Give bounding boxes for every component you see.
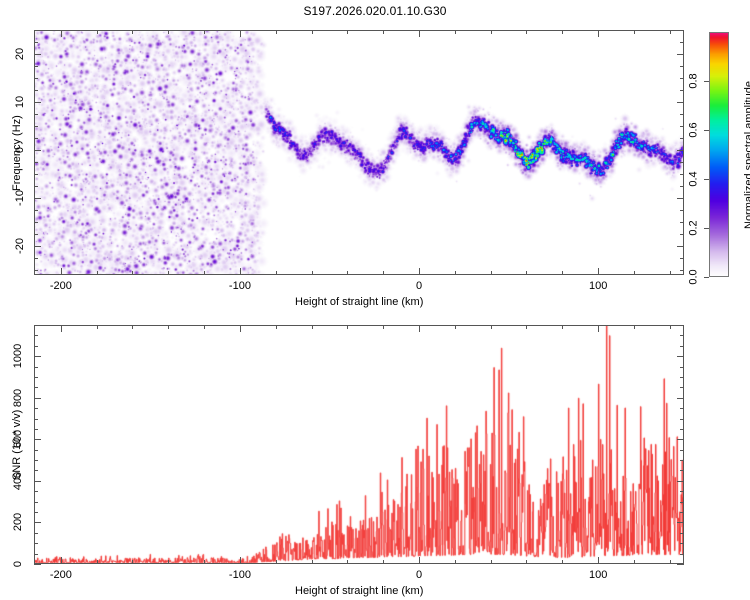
axis-tick-label: 200	[12, 513, 24, 531]
axis-tick	[132, 560, 133, 564]
axis-tick	[680, 66, 684, 67]
axis-tick-label: 10	[14, 96, 26, 108]
axis-tick	[34, 174, 38, 175]
axis-tick	[680, 554, 684, 555]
axis-tick	[598, 325, 599, 332]
axis-tick	[204, 30, 205, 34]
axis-tick	[680, 460, 684, 461]
axis-tick	[132, 325, 133, 329]
axis-tick	[34, 246, 41, 247]
axis-tick	[670, 325, 671, 329]
axis-tick	[677, 102, 684, 103]
axis-tick	[240, 268, 241, 275]
axis-tick	[61, 557, 62, 564]
axis-tick	[34, 439, 41, 440]
axis-tick	[276, 325, 277, 329]
axis-tick-label: 100	[589, 569, 607, 581]
axis-tick	[680, 78, 684, 79]
axis-tick	[677, 439, 684, 440]
axis-tick	[680, 186, 684, 187]
axis-tick-label: 0.2	[687, 220, 699, 235]
axis-tick	[680, 210, 684, 211]
axis-tick	[598, 557, 599, 564]
axis-tick	[562, 30, 563, 34]
axis-tick	[634, 560, 635, 564]
axis-tick	[419, 30, 420, 37]
axis-tick	[61, 30, 62, 37]
axis-tick	[61, 325, 62, 332]
axis-tick	[34, 408, 38, 409]
axis-tick	[491, 325, 492, 329]
axis-tick	[34, 367, 38, 368]
axis-tick	[34, 346, 38, 347]
axis-tick	[347, 560, 348, 564]
axis-tick	[34, 325, 38, 326]
spectrogram-axes-frame	[34, 30, 684, 275]
axis-tick	[680, 270, 684, 271]
axis-tick	[680, 491, 684, 492]
axis-tick	[704, 179, 709, 180]
axis-tick	[704, 130, 709, 131]
axis-tick-label: 0.4	[687, 171, 699, 186]
axis-tick	[680, 174, 684, 175]
axis-tick	[491, 560, 492, 564]
axis-tick	[34, 114, 38, 115]
axis-tick	[680, 90, 684, 91]
axis-tick	[680, 335, 684, 336]
axis-tick	[132, 30, 133, 34]
axis-tick-label: -100	[229, 569, 251, 581]
axis-tick	[34, 502, 38, 503]
axis-tick	[61, 268, 62, 275]
axis-tick-label: 0.0	[687, 269, 699, 284]
axis-tick	[312, 271, 313, 275]
axis-tick	[680, 419, 684, 420]
axis-tick	[34, 30, 38, 31]
axis-tick	[34, 234, 38, 235]
axis-tick	[677, 54, 684, 55]
axis-tick	[312, 560, 313, 564]
axis-tick	[34, 419, 38, 420]
axis-tick	[670, 271, 671, 275]
axis-tick	[704, 228, 709, 229]
axis-tick	[680, 30, 684, 31]
axis-tick	[204, 560, 205, 564]
axis-tick	[312, 30, 313, 34]
spectrogram-y-axis-label: Frequency (Hz)	[11, 115, 23, 191]
axis-tick	[240, 557, 241, 564]
axis-tick	[680, 234, 684, 235]
axis-tick	[34, 138, 38, 139]
axis-tick	[680, 42, 684, 43]
axis-tick	[680, 429, 684, 430]
axis-tick	[455, 560, 456, 564]
axis-tick	[34, 554, 38, 555]
axis-tick	[383, 30, 384, 34]
axis-tick	[491, 30, 492, 34]
axis-tick	[455, 271, 456, 275]
axis-tick	[455, 30, 456, 34]
axis-tick	[680, 377, 684, 378]
axis-tick	[677, 150, 684, 151]
axis-tick	[34, 564, 41, 565]
axis-tick	[97, 325, 98, 329]
axis-tick-label: 0	[416, 280, 422, 292]
axis-tick	[34, 335, 38, 336]
axis-tick-label: 1000	[12, 344, 24, 368]
axis-tick	[670, 560, 671, 564]
axis-tick	[34, 162, 38, 163]
axis-tick	[598, 268, 599, 275]
axis-tick	[34, 258, 38, 259]
axis-tick	[34, 66, 38, 67]
axis-tick	[526, 271, 527, 275]
axis-tick	[680, 470, 684, 471]
axis-tick	[680, 450, 684, 451]
axis-tick	[34, 522, 41, 523]
axis-tick-label: 100	[589, 280, 607, 292]
axis-tick	[168, 271, 169, 275]
axis-tick	[34, 102, 41, 103]
axis-tick	[132, 271, 133, 275]
axis-tick	[677, 481, 684, 482]
axis-tick	[677, 246, 684, 247]
axis-tick	[419, 325, 420, 332]
axis-tick	[34, 377, 38, 378]
axis-tick	[34, 543, 38, 544]
axis-tick	[34, 512, 38, 513]
axis-tick	[680, 325, 684, 326]
axis-tick	[419, 557, 420, 564]
axis-tick	[680, 502, 684, 503]
axis-tick-label: -10	[14, 190, 26, 206]
axis-tick	[204, 325, 205, 329]
axis-tick-label: -200	[50, 569, 72, 581]
axis-tick	[347, 271, 348, 275]
axis-tick	[383, 325, 384, 329]
colorbar-frame	[709, 32, 729, 277]
axis-tick-label: 20	[14, 48, 26, 60]
axis-tick	[680, 346, 684, 347]
axis-tick	[680, 533, 684, 534]
axis-tick	[276, 560, 277, 564]
axis-tick	[97, 560, 98, 564]
axis-tick	[383, 560, 384, 564]
axis-tick	[34, 222, 38, 223]
axis-tick	[704, 81, 709, 82]
spectrogram-x-axis-label: Height of straight line (km)	[295, 296, 423, 308]
axis-tick	[680, 543, 684, 544]
axis-tick	[168, 325, 169, 329]
axis-tick	[680, 258, 684, 259]
axis-tick	[419, 268, 420, 275]
colorbar-label: Normalized spectral amplitude	[743, 81, 750, 229]
axis-tick	[34, 356, 41, 357]
axis-tick	[34, 429, 38, 430]
axis-tick	[562, 325, 563, 329]
axis-tick-label: -100	[229, 280, 251, 292]
axis-tick	[34, 54, 41, 55]
axis-tick	[347, 325, 348, 329]
axis-tick	[677, 356, 684, 357]
axis-tick	[680, 138, 684, 139]
axis-tick	[680, 512, 684, 513]
axis-tick	[670, 30, 671, 34]
axis-tick	[34, 398, 41, 399]
axis-tick	[34, 270, 38, 271]
axis-tick	[34, 491, 38, 492]
axis-tick	[34, 533, 38, 534]
axis-tick	[634, 325, 635, 329]
axis-tick	[34, 78, 38, 79]
axis-tick	[677, 522, 684, 523]
axis-tick	[168, 560, 169, 564]
axis-tick	[34, 126, 38, 127]
figure-title: S197.2026.020.01.10.G30	[0, 4, 750, 18]
axis-tick	[455, 325, 456, 329]
axis-tick	[34, 42, 38, 43]
axis-tick	[34, 460, 38, 461]
axis-tick-label: 0.8	[687, 73, 699, 88]
axis-tick	[34, 150, 41, 151]
axis-tick	[34, 481, 41, 482]
figure-root: S197.2026.020.01.10.G30 -200-1000100-20-…	[0, 0, 750, 600]
axis-tick	[562, 560, 563, 564]
axis-tick	[168, 30, 169, 34]
axis-tick	[526, 560, 527, 564]
axis-tick	[677, 564, 684, 565]
axis-tick	[491, 271, 492, 275]
axis-tick	[526, 325, 527, 329]
axis-tick	[634, 271, 635, 275]
axis-tick	[680, 387, 684, 388]
axis-tick	[34, 387, 38, 388]
axis-tick	[680, 114, 684, 115]
axis-tick	[276, 30, 277, 34]
axis-tick-label: 800	[12, 389, 24, 407]
axis-tick-label: 0	[12, 561, 24, 567]
axis-tick	[276, 271, 277, 275]
axis-tick	[383, 271, 384, 275]
axis-tick-label: 0.6	[687, 122, 699, 137]
axis-tick	[34, 198, 41, 199]
axis-tick	[240, 325, 241, 332]
axis-tick	[240, 30, 241, 37]
axis-tick	[677, 198, 684, 199]
axis-tick	[34, 186, 38, 187]
axis-tick	[526, 30, 527, 34]
axis-tick	[347, 30, 348, 34]
axis-tick	[34, 470, 38, 471]
axis-tick-label: -20	[14, 238, 26, 254]
snr-y-axis-label: SNR (10 * v/v)	[11, 409, 23, 479]
axis-tick-label: -200	[50, 280, 72, 292]
snr-x-axis-label: Height of straight line (km)	[295, 585, 423, 597]
axis-tick	[634, 30, 635, 34]
axis-tick	[97, 30, 98, 34]
axis-tick	[677, 398, 684, 399]
axis-tick	[680, 408, 684, 409]
axis-tick	[598, 30, 599, 37]
axis-tick	[34, 210, 38, 211]
axis-tick	[680, 126, 684, 127]
axis-tick	[204, 271, 205, 275]
axis-tick	[680, 222, 684, 223]
axis-tick	[680, 367, 684, 368]
snr-axes-frame	[34, 325, 684, 564]
axis-tick-label: 0	[416, 569, 422, 581]
axis-tick	[562, 271, 563, 275]
axis-tick	[680, 162, 684, 163]
axis-tick	[34, 450, 38, 451]
axis-tick	[312, 325, 313, 329]
axis-tick	[97, 271, 98, 275]
axis-tick	[34, 90, 38, 91]
axis-tick	[704, 277, 709, 278]
